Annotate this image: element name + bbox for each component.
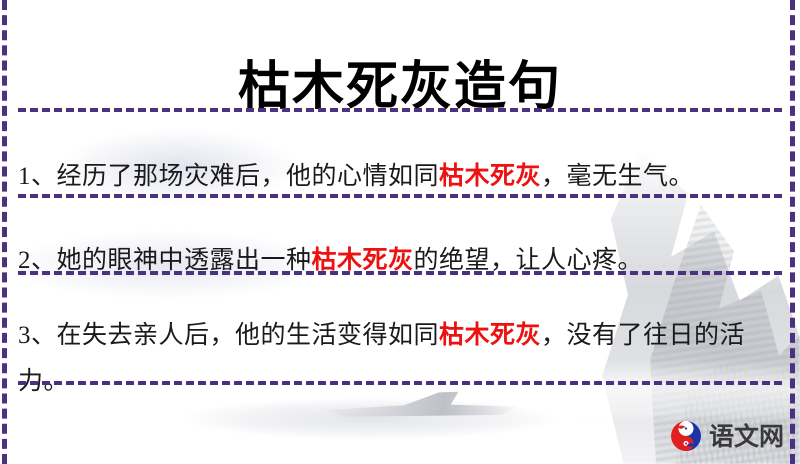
sentence-3-idiom: 枯木死灰: [439, 322, 541, 349]
sentence-2-before: 2、她的眼神中透露出一种: [18, 247, 312, 274]
site-logo: 语文网: [670, 420, 784, 452]
dashed-divider-3: [18, 271, 782, 275]
sentence-2-idiom: 枯木死灰: [312, 247, 414, 274]
sentence-1-before: 1、经历了那场灾难后，他的心情如同: [18, 163, 439, 190]
example-sentence-2: 2、她的眼神中透露出一种枯木死灰的绝望，让人心疼。: [18, 238, 776, 284]
dashed-border-right: [790, 0, 795, 464]
sentence-1-idiom: 枯木死灰: [439, 163, 541, 190]
dashed-divider-1: [18, 108, 782, 112]
site-logo-text: 语文网: [709, 424, 784, 449]
sentence-1-after: ，毫无生气。: [541, 163, 694, 190]
sentence-3-before: 3、在失去亲人后，他的生活变得如同: [18, 322, 439, 349]
sentence-2-after: 的绝望，让人心疼。: [414, 247, 644, 274]
dashed-divider-2: [18, 194, 782, 198]
dashed-border-left: [2, 0, 7, 464]
yin-yang-fish-logo-icon: [670, 420, 702, 452]
document-page: 枯木死灰造句 1、经历了那场灾难后，他的心情如同枯木死灰，毫无生气。 2、她的眼…: [0, 0, 800, 464]
dashed-divider-4: [18, 381, 782, 385]
example-sentence-3: 3、在失去亲人后，他的生活变得如同枯木死灰，没有了往日的活力。: [18, 313, 776, 405]
